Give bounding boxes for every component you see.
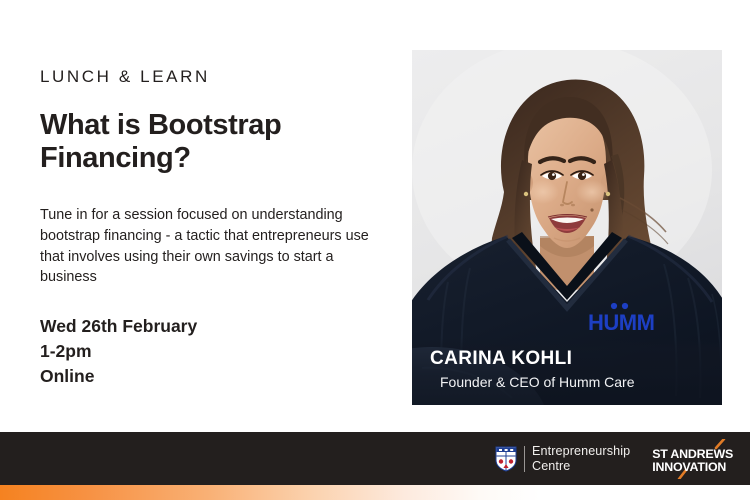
speaker-photo: HUMM CARINA KOHLI Founder & CEO of Humm … bbox=[412, 50, 722, 405]
university-crest-icon bbox=[495, 446, 517, 472]
description-text: Tune in for a session focused on underst… bbox=[40, 205, 370, 289]
eyebrow-label: LUNCH & LEARN bbox=[40, 68, 385, 87]
event-details: Wed 26th February 1-2pm Online bbox=[40, 314, 385, 389]
orange-gradient-strip bbox=[0, 485, 750, 500]
st-andrews-innovation-logo: ST ANDREWS INNOVATION bbox=[652, 439, 750, 479]
entrepreneurship-centre-logo: Entrepreneurship Centre bbox=[495, 444, 630, 473]
svg-text:HUMM: HUMM bbox=[588, 310, 654, 335]
event-time: 1-2pm bbox=[40, 339, 385, 364]
event-date: Wed 26th February bbox=[40, 314, 385, 339]
ec-line-1: Entrepreneurship bbox=[532, 444, 630, 458]
innovation-wordmark: ST ANDREWS INNOVATION bbox=[652, 448, 733, 475]
speaker-name: CARINA KOHLI bbox=[430, 348, 722, 371]
sai-line-1: ST ANDREWS bbox=[652, 448, 733, 462]
speaker-name-overlay: CARINA KOHLI Founder & CEO of Humm Care bbox=[412, 338, 722, 405]
logo-divider bbox=[524, 446, 525, 472]
page-title: What is Bootstrap Financing? bbox=[40, 109, 385, 175]
poster-text-column: LUNCH & LEARN What is Bootstrap Financin… bbox=[40, 68, 385, 389]
footer-logos: Entrepreneurship Centre ST ANDREWS INNOV… bbox=[495, 432, 750, 485]
event-poster: LUNCH & LEARN What is Bootstrap Financin… bbox=[0, 0, 750, 500]
entrepreneurship-centre-wordmark: Entrepreneurship Centre bbox=[532, 444, 630, 473]
speaker-role: Founder & CEO of Humm Care bbox=[440, 374, 722, 391]
ec-line-2: Centre bbox=[532, 459, 630, 473]
headline-line-2: Financing? bbox=[40, 142, 385, 175]
sai-line-2: INNOVATION bbox=[652, 461, 733, 475]
headline-line-1: What is Bootstrap bbox=[40, 109, 385, 142]
event-location: Online bbox=[40, 364, 385, 389]
